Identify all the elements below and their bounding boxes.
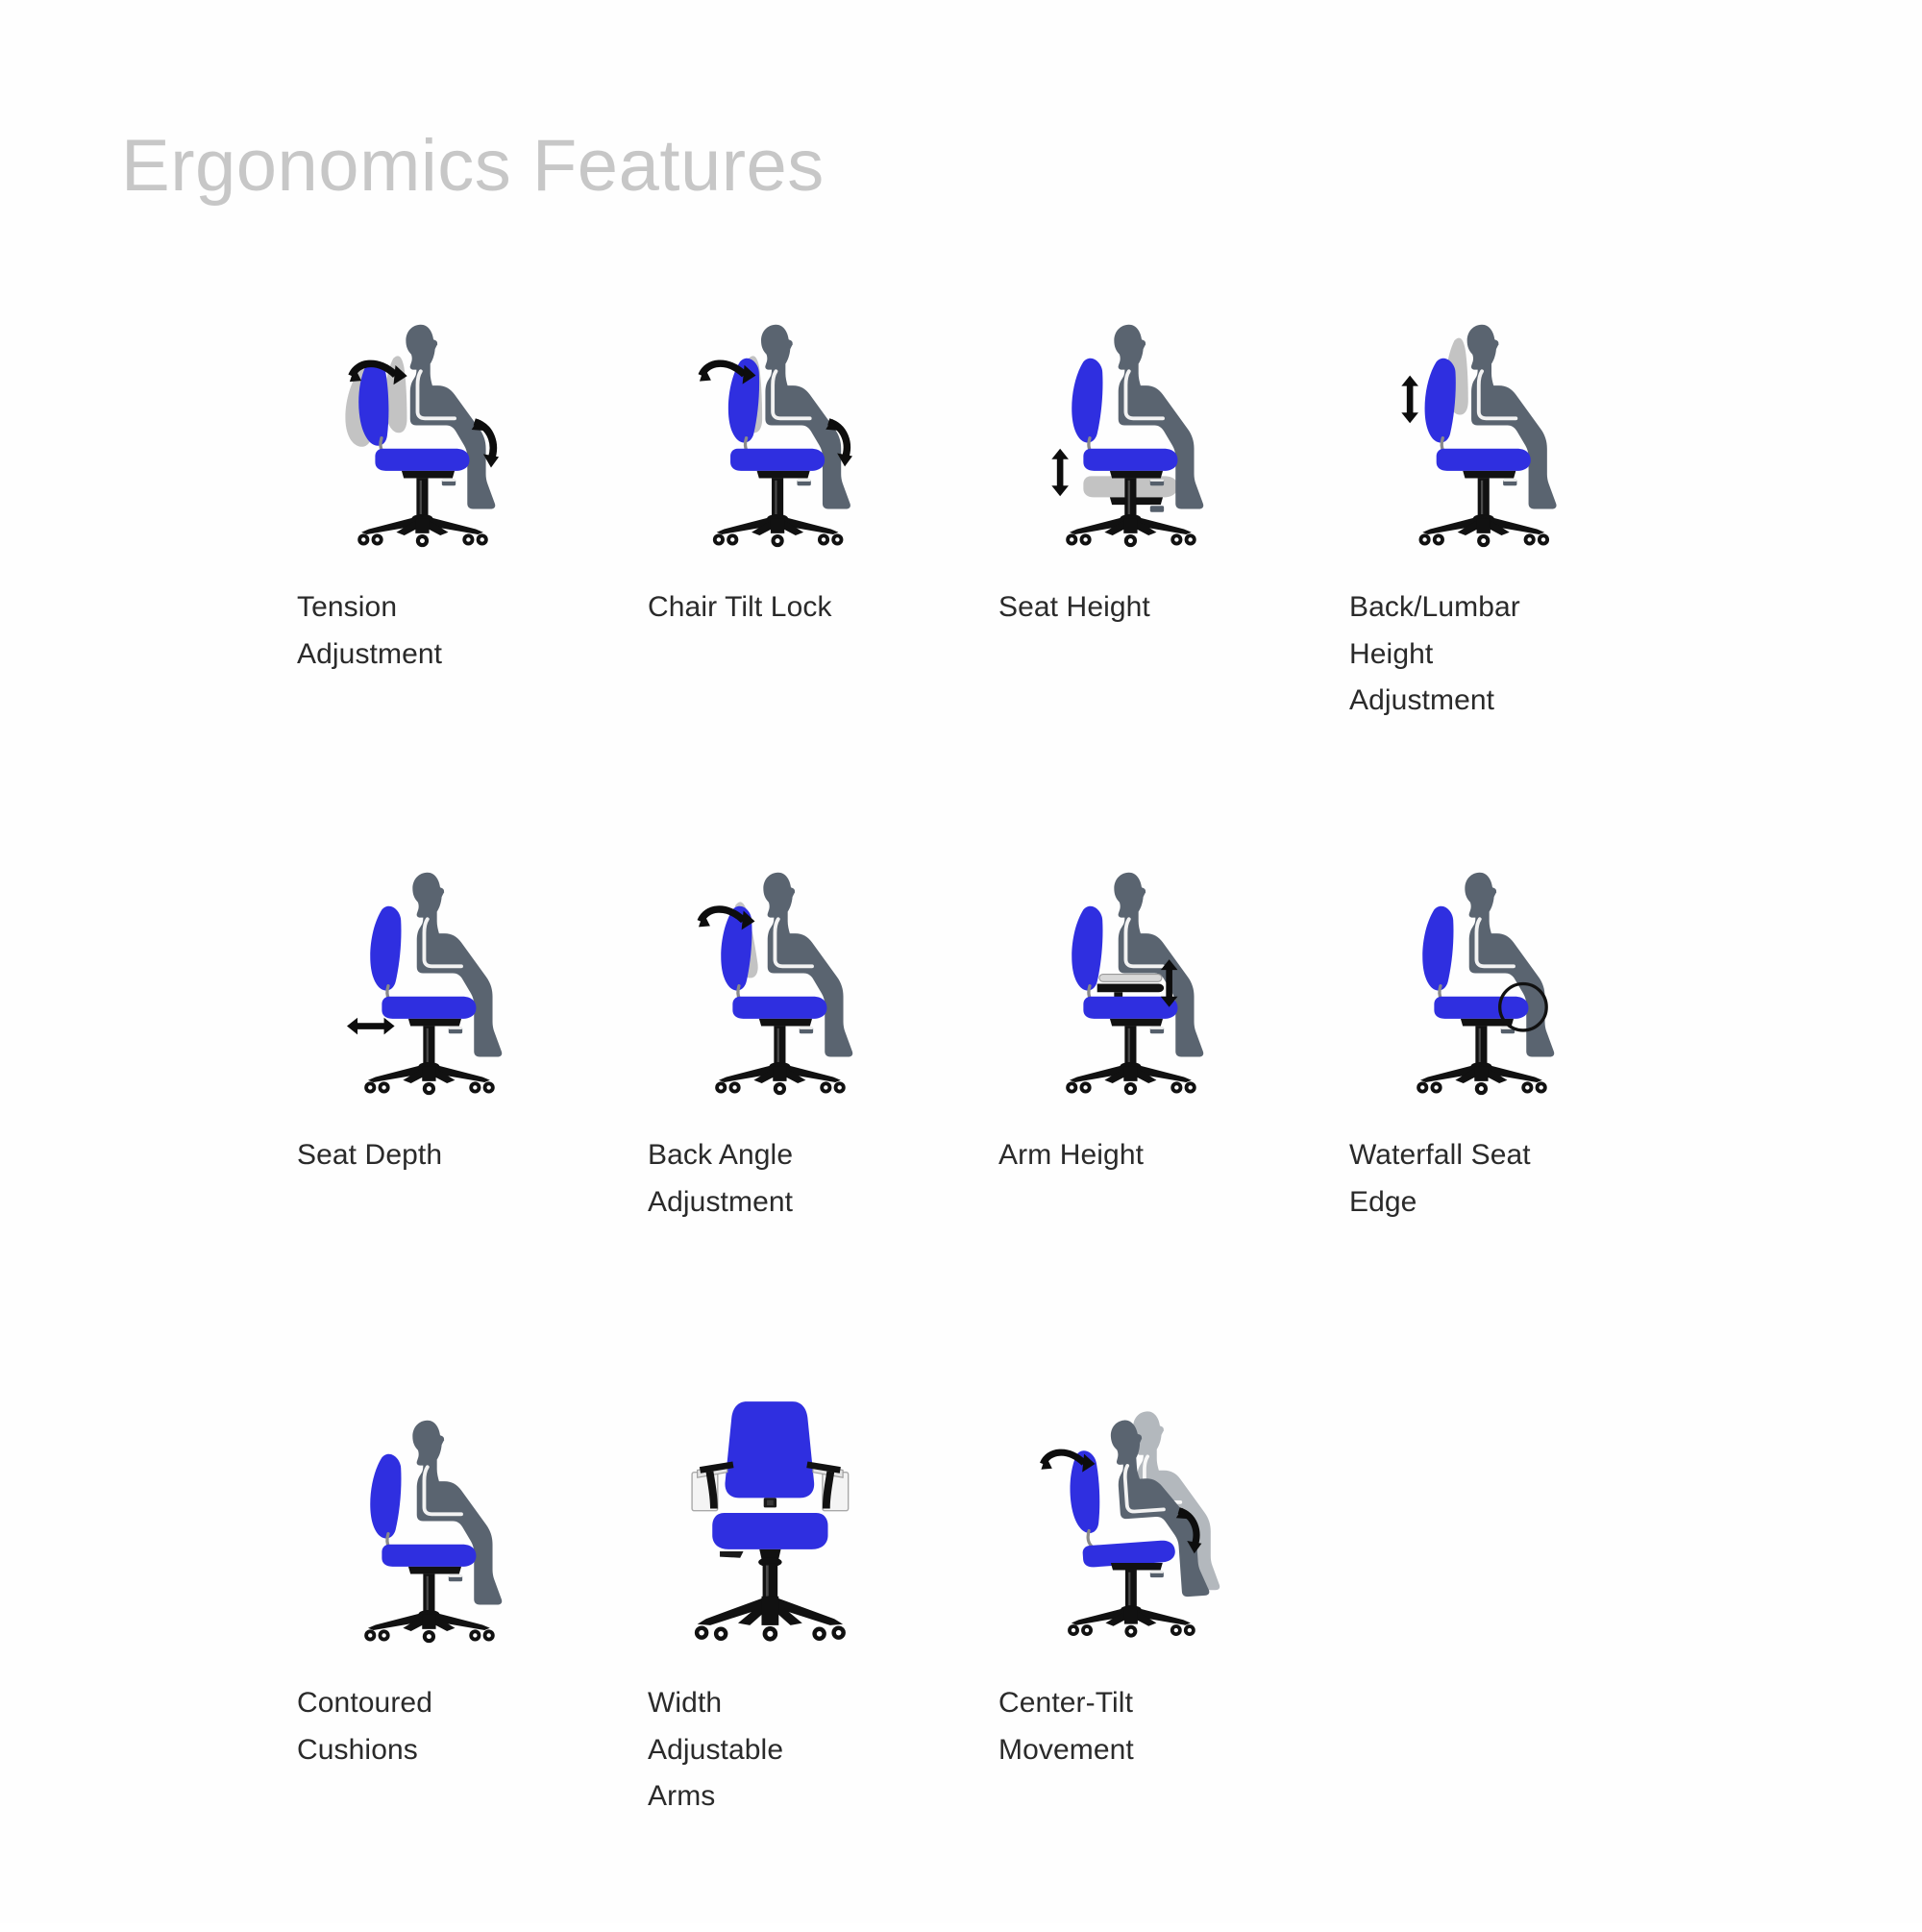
contoured-cushions-icon <box>279 1384 567 1663</box>
center-tilt-movement-icon <box>980 1384 1269 1663</box>
feature-label: Waterfall SeatEdge <box>1349 1132 1585 1226</box>
arm-height-icon <box>980 836 1269 1115</box>
feature-label: Chair Tilt Lock <box>648 584 883 632</box>
feature-cell-back-lumbar-height-adjustment: Back/LumbarHeightAdjustment <box>1331 288 1682 836</box>
seat-depth-icon <box>279 836 567 1115</box>
feature-cell-seat-depth: Seat Depth <box>279 836 629 1384</box>
feature-label: Center-TiltMovement <box>998 1680 1234 1773</box>
seat-height-icon <box>980 288 1269 567</box>
feature-cell-chair-tilt-lock: Chair Tilt Lock <box>629 288 980 836</box>
blue-backrest-icon <box>1072 906 1102 991</box>
chair-tilt-lock-icon <box>629 288 918 567</box>
feature-cell-back-angle-adjustment: Back AngleAdjustment <box>629 836 980 1384</box>
blue-backrest-icon <box>370 906 401 991</box>
blue-seat-icon <box>732 997 826 1019</box>
feature-cell-center-tilt-movement: Center-TiltMovement <box>980 1384 1331 1932</box>
blue-backrest-icon <box>1422 906 1453 991</box>
page-title: Ergonomics Features <box>121 128 825 205</box>
feature-label: ContouredCushions <box>297 1680 532 1773</box>
width-adjustable-arms-icon <box>629 1384 918 1663</box>
feature-label: WidthAdjustableArms <box>648 1680 883 1821</box>
chair-base-icon <box>1068 1563 1195 1638</box>
waterfall-seat-edge-icon <box>1331 836 1619 1115</box>
blue-seat-icon <box>1434 997 1528 1019</box>
feature-cell-seat-height: Seat Height <box>980 288 1331 836</box>
blue-seat-icon <box>730 449 825 471</box>
blue-backrest-icon <box>1425 359 1456 443</box>
seat-height-arrow-icon <box>1051 449 1069 497</box>
tension-adjustment-icon <box>279 288 567 567</box>
blue-seat-icon <box>375 449 469 471</box>
feature-label: Arm Height <box>998 1132 1234 1179</box>
feature-cell-width-adjustable-arms: WidthAdjustableArms <box>629 1384 980 1932</box>
feature-label: Back/LumbarHeightAdjustment <box>1349 584 1585 725</box>
features-grid: TensionAdjustment Ch <box>279 288 1672 1932</box>
feature-cell-arm-height: Arm Height <box>980 836 1331 1384</box>
ergonomics-features-page: Ergonomics Features <box>0 0 1922 1923</box>
blue-backrest-icon <box>370 1454 401 1539</box>
feature-label: TensionAdjustment <box>297 584 532 678</box>
feature-label: Seat Height <box>998 584 1234 632</box>
chair-front-view-icon <box>692 1401 849 1641</box>
feature-label: Back AngleAdjustment <box>648 1132 883 1226</box>
back-angle-icon <box>629 836 918 1115</box>
feature-cell-tension-adjustment: TensionAdjustment <box>279 288 629 836</box>
blue-seat-icon <box>382 1545 476 1567</box>
feature-cell-contoured-cushions: ContouredCushions <box>279 1384 629 1932</box>
back-lumbar-height-icon <box>1331 288 1619 567</box>
seat-depth-arrow-icon <box>347 1018 395 1035</box>
feature-label: Seat Depth <box>297 1132 532 1179</box>
lumbar-height-arrow-icon <box>1401 376 1418 424</box>
blue-backrest-icon <box>1072 359 1102 443</box>
blue-seat-icon <box>382 997 476 1019</box>
blue-seat-icon <box>1083 449 1177 471</box>
feature-cell-waterfall-seat-edge: Waterfall SeatEdge <box>1331 836 1682 1384</box>
blue-seat-icon <box>1437 449 1531 471</box>
